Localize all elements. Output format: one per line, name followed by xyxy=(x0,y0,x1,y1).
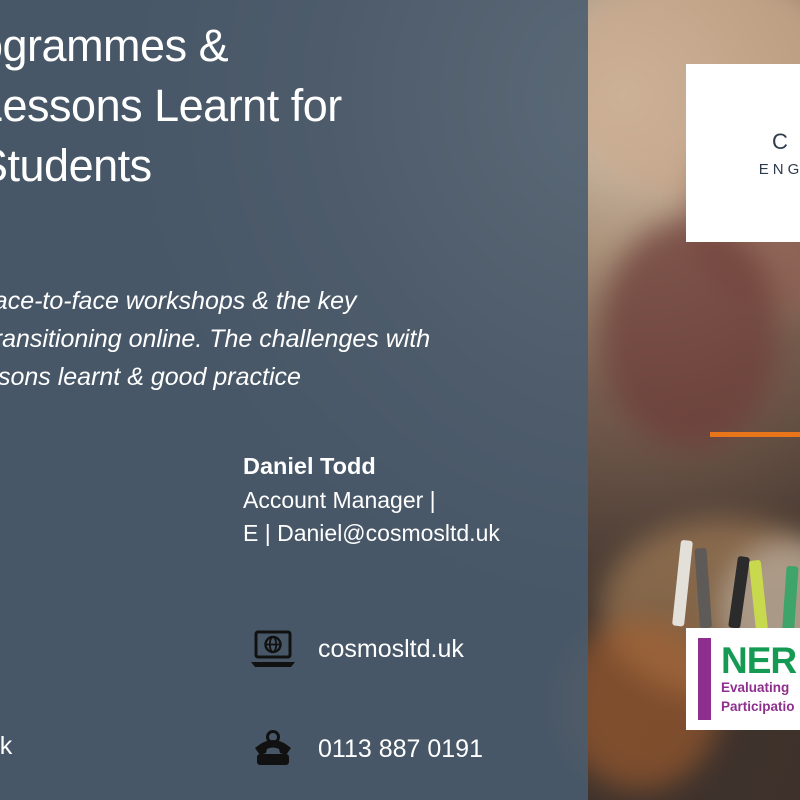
partner-logo-main: C xyxy=(772,129,790,155)
presenter-role: Account Manager | xyxy=(243,484,573,518)
contact-row-telephone: 0113 887 0191 xyxy=(246,722,483,776)
presentation-slide: ogrammes & Lessons Learnt for Students g… xyxy=(0,0,800,800)
presenter-email: E | Daniel@cosmosltd.uk xyxy=(243,517,573,551)
slide-title: ogrammes & Lessons Learnt for Students xyxy=(0,16,538,196)
contact-telephone-label[interactable]: 0113 887 0191 xyxy=(318,735,483,764)
orange-divider xyxy=(710,432,800,437)
presenter-block: Daniel Todd Account Manager | E | Daniel… xyxy=(243,449,573,551)
telephone-icon xyxy=(246,722,300,776)
nerupi-logo: NER Evaluating Participatio xyxy=(686,628,800,730)
presenter-name: Daniel Todd xyxy=(243,449,573,484)
presenter-left-fragment: k xyxy=(0,449,20,483)
nerupi-tagline-line2: Participatio xyxy=(721,698,796,716)
presenter-left-line1: k xyxy=(0,449,20,483)
contact-row-website: cosmosltd.uk xyxy=(246,622,464,676)
partner-logo-card: C ENG xyxy=(686,64,800,242)
nerupi-text-block: NER Evaluating Participatio xyxy=(721,628,796,730)
nerupi-tagline-line1: Evaluating xyxy=(721,679,796,697)
slide-subtitle: g face-to-face workshops & the key n tra… xyxy=(0,282,586,396)
nerupi-purple-bar xyxy=(698,638,711,720)
contact-website-label[interactable]: cosmosltd.uk xyxy=(318,635,464,664)
photo-blob-jumper xyxy=(600,220,780,450)
clipped-text-website: sltd.uk xyxy=(0,732,12,761)
nerupi-wordmark: NER xyxy=(721,642,796,679)
laptop-globe-icon xyxy=(246,622,300,676)
partner-logo-sub: ENG xyxy=(759,161,800,178)
